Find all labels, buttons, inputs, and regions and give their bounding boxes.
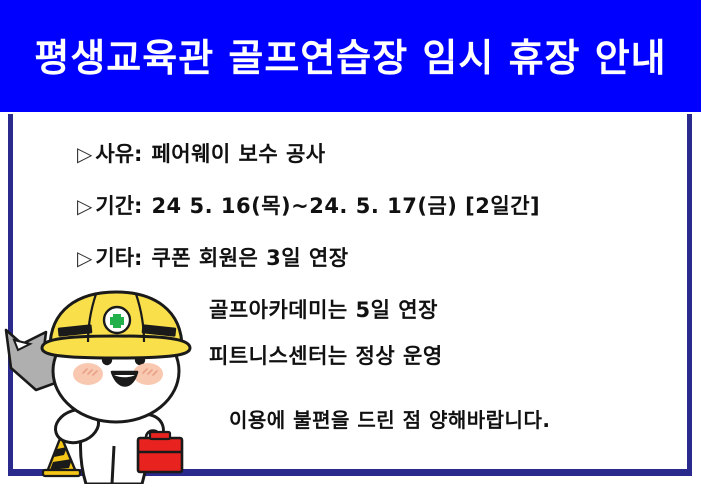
- triangle-right-icon: ▷: [77, 196, 92, 216]
- notice-list: ▷ 사유: 페어웨이 보수 공사 ▷ 기간: 24 5. 16(목)~24. 5…: [77, 138, 687, 433]
- notice-label-other: 기타:: [95, 242, 142, 272]
- triangle-right-icon: ▷: [77, 248, 92, 268]
- notice-row-period: ▷ 기간: 24 5. 16(목)~24. 5. 17(금) [2일간]: [77, 190, 687, 220]
- notice-label-reason: 사유:: [95, 138, 142, 168]
- triangle-right-icon: ▷: [77, 144, 92, 164]
- notice-subline-academy: 골프아카데미는 5일 연장: [209, 294, 687, 324]
- notice-closing-message: 이용에 불편을 드린 점 양해바랍니다.: [229, 404, 687, 433]
- notice-poster: 평생교육관 골프연습장 임시 휴장 안내 ▷ 사유: 페어웨이 보수 공사 ▷ …: [0, 0, 701, 484]
- notice-row-other: ▷ 기타: 쿠폰 회원은 3일 연장: [77, 242, 687, 272]
- notice-value-period: 24 5. 16(목)~24. 5. 17(금) [2일간]: [151, 190, 540, 220]
- notice-value-reason: 페어웨이 보수 공사: [151, 138, 325, 168]
- notice-value-other: 쿠폰 회원은 3일 연장: [151, 242, 348, 272]
- notice-row-reason: ▷ 사유: 페어웨이 보수 공사: [77, 138, 687, 168]
- title-banner: 평생교육관 골프연습장 임시 휴장 안내: [0, 0, 701, 112]
- notice-body-frame: ▷ 사유: 페어웨이 보수 공사 ▷ 기간: 24 5. 16(목)~24. 5…: [8, 114, 692, 476]
- notice-label-period: 기간:: [95, 190, 142, 220]
- notice-subline-fitness: 피트니스센터는 정상 운영: [209, 340, 687, 370]
- page-title: 평생교육관 골프연습장 임시 휴장 안내: [34, 39, 666, 77]
